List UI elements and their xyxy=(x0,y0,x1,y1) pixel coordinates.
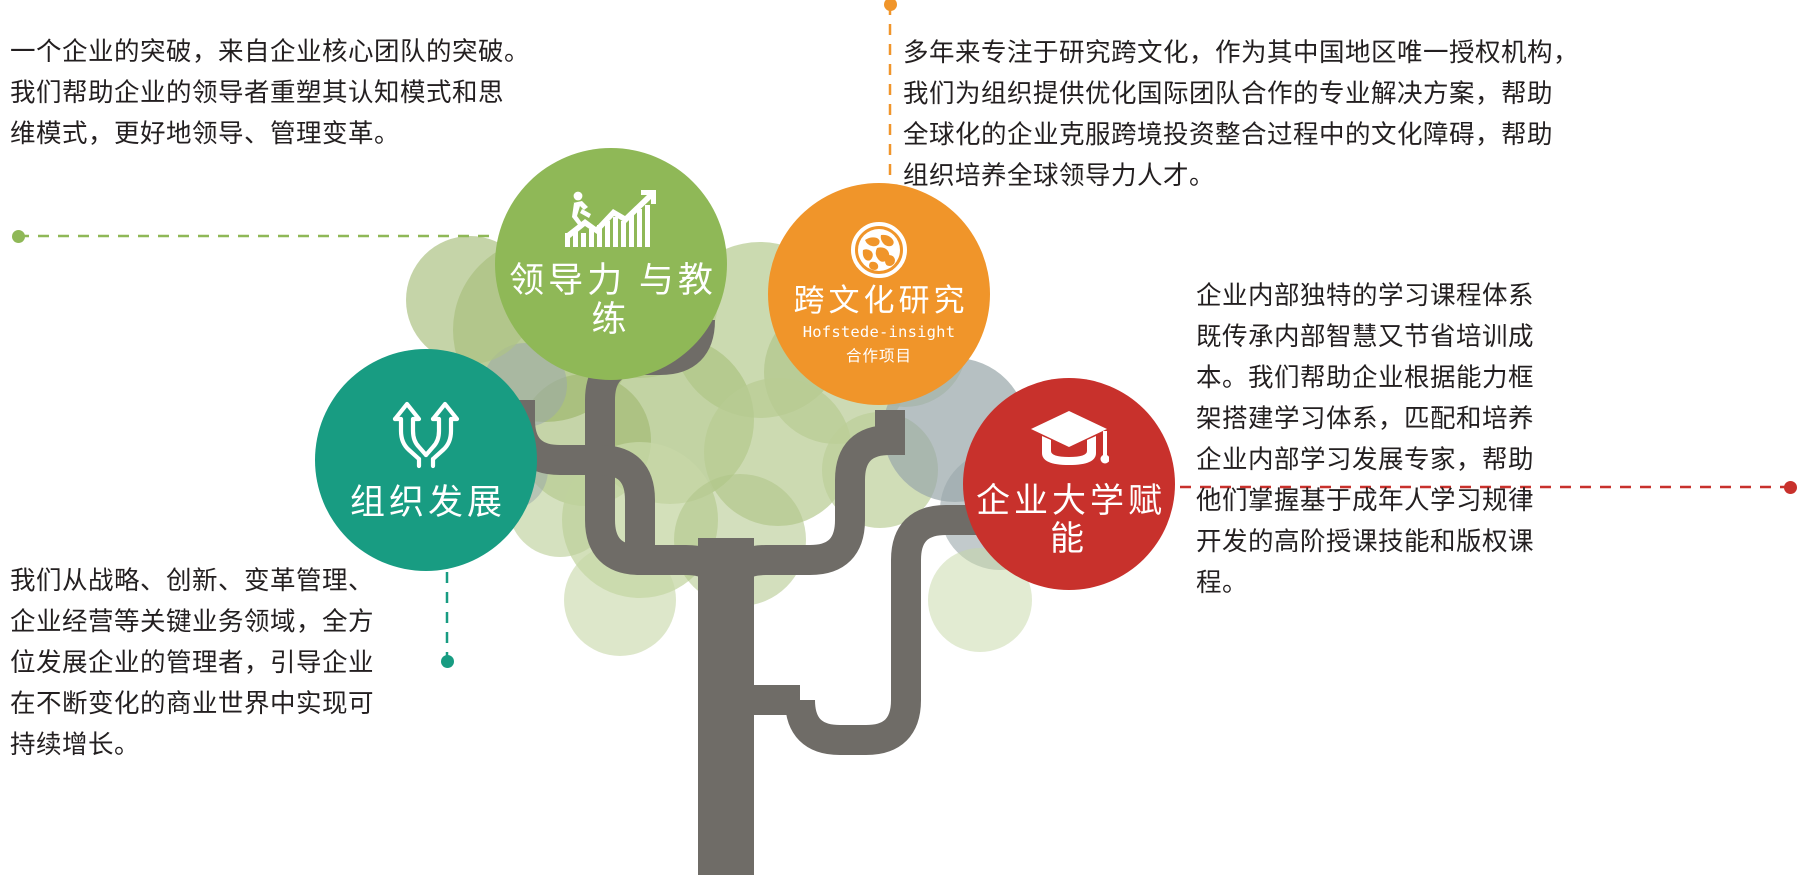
paragraph-crosscultural: 多年来专注于研究跨文化，作为其中国地区唯一授权机构， 我们为组织提供优化国际团队… xyxy=(903,33,1603,197)
node-university-label: 企业大学赋 能 xyxy=(963,483,1175,559)
growth-chart-runner-icon xyxy=(563,189,659,249)
node-crosscultural[interactable]: 跨文化研究 Hofstede-insight 合作项目 xyxy=(768,183,990,405)
globe-icon xyxy=(851,222,907,278)
node-university[interactable]: 企业大学赋 能 xyxy=(963,378,1175,590)
node-orgdev-label: 组织发展 xyxy=(346,483,506,522)
branching-arrows-icon xyxy=(389,397,463,469)
graduation-cap-icon xyxy=(1029,409,1109,471)
paragraph-orgdev: 我们从战略、创新、变革管理、 企业经营等关键业务领域，全方 位发展企业的管理者，… xyxy=(10,561,410,766)
infographic-canvas: 领导力 与教练 跨文化研究 Hofstede-insight 合作项目 xyxy=(0,0,1802,875)
node-crosscultural-sub2: 合作项目 xyxy=(846,344,912,366)
node-orgdev[interactable]: 组织发展 xyxy=(315,349,537,571)
leadership-connector-dot xyxy=(12,230,25,243)
paragraph-university: 企业内部独特的学习课程体系 既传承内部智慧又节省培训成 本。我们帮助企业根据能力… xyxy=(1196,276,1796,604)
orgdev-connector-dot xyxy=(441,655,454,668)
node-crosscultural-label: 跨文化研究 xyxy=(790,284,969,319)
paragraph-leadership: 一个企业的突破，来自企业核心团队的突破。 我们帮助企业的领导者重塑其认知模式和思… xyxy=(10,32,570,155)
node-leadership[interactable]: 领导力 与教练 xyxy=(495,148,727,380)
node-leadership-label: 领导力 与教练 xyxy=(495,261,727,339)
node-crosscultural-sub: Hofstede-insight xyxy=(803,322,956,343)
